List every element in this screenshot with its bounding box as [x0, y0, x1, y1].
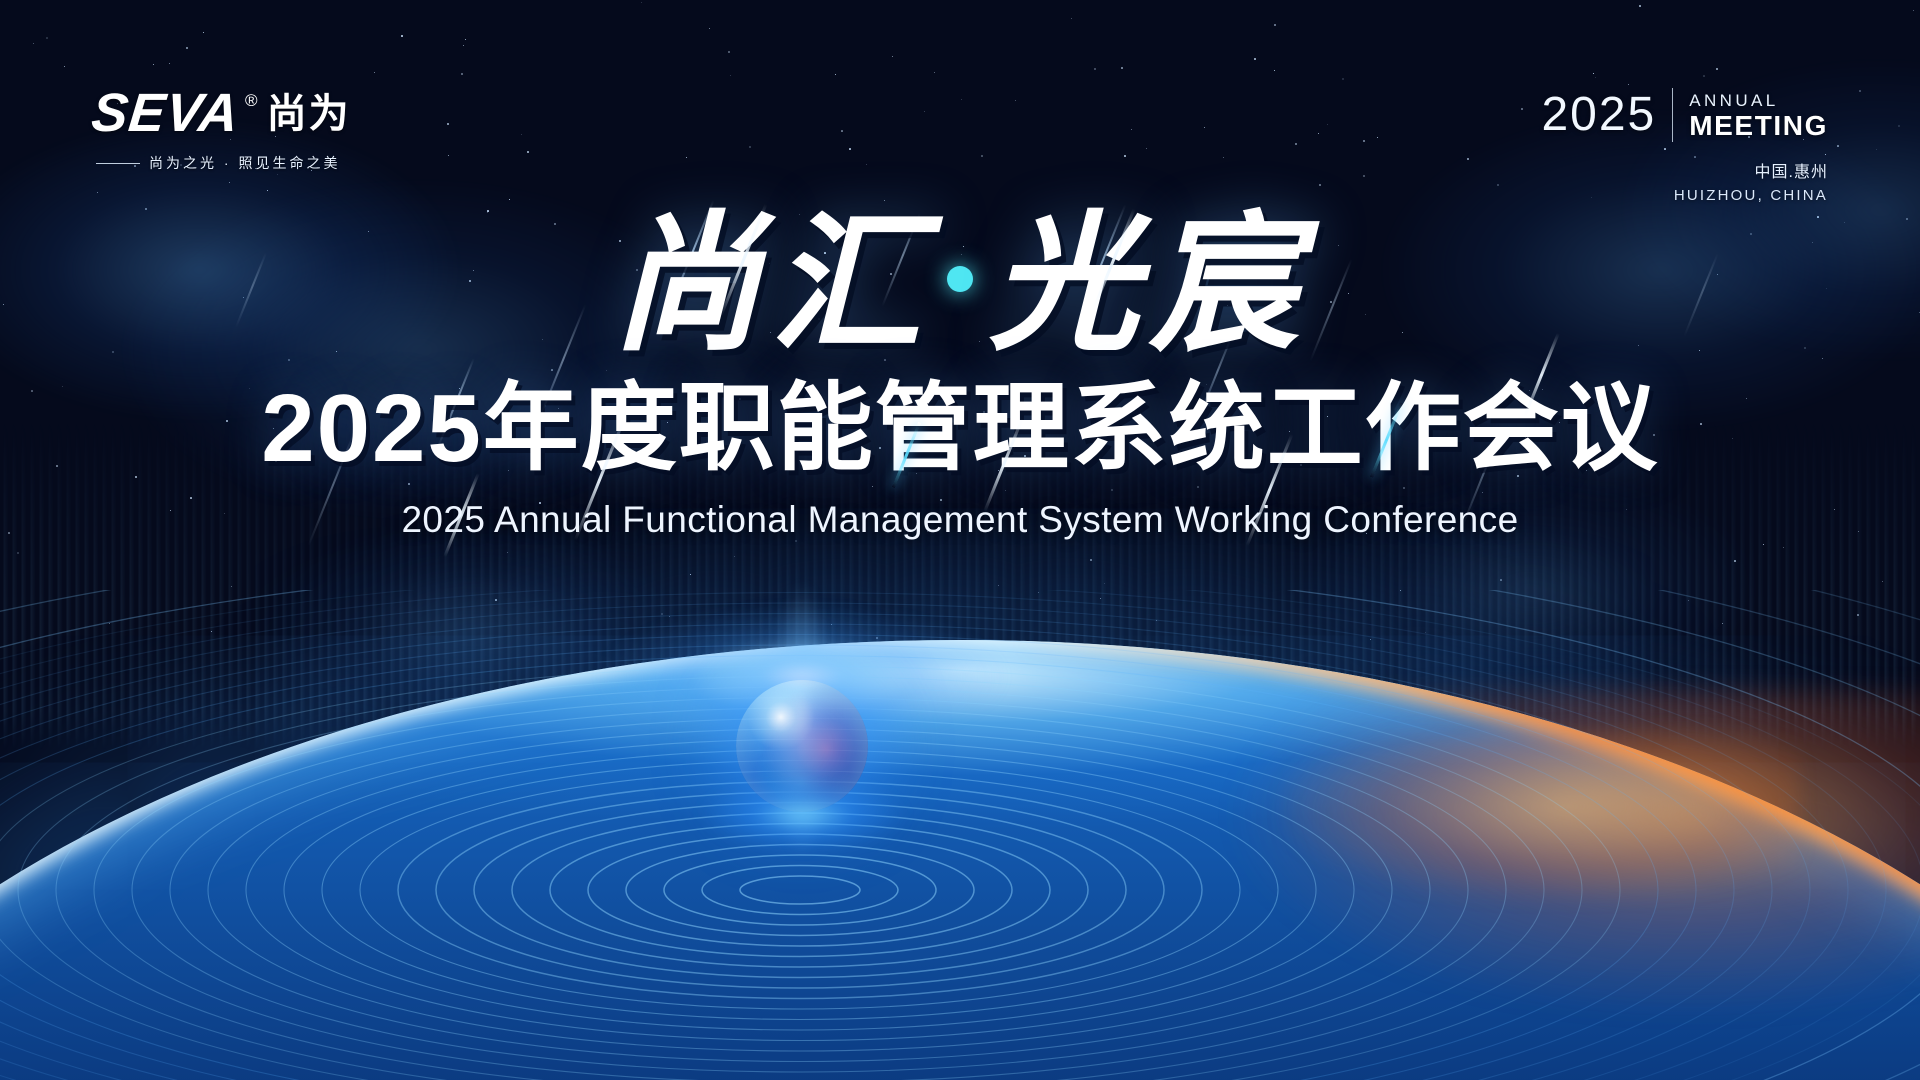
hero-title-right: 光宸 — [989, 200, 1309, 368]
meeting-meta-block: 2025 ANNUAL MEETING 中国.惠州 HUIZHOU, CHINA — [1541, 88, 1828, 204]
hero-subtitle-cn: 2025年度职能管理系统工作会议 — [0, 376, 1920, 482]
logo-wordmark-row: SEVA ® 尚为 — [92, 86, 392, 140]
registered-trademark-icon: ® — [245, 92, 258, 109]
planet-horizon — [0, 640, 1920, 1080]
hero-title: 尚汇光宸 — [0, 205, 1920, 364]
meeting-city-en: HUIZHOU, CHINA — [1541, 187, 1828, 204]
meeting-words: ANNUAL MEETING — [1689, 90, 1828, 141]
brand-tagline-row: 尚为之光 · 照见生命之美 — [96, 153, 392, 173]
meeting-annual-label: ANNUAL — [1689, 90, 1828, 111]
brand-logo: SEVA ® 尚为 尚为之光 · 照见生命之美 — [92, 86, 392, 173]
meeting-title-row: 2025 ANNUAL MEETING — [1541, 88, 1828, 142]
meeting-meeting-label: MEETING — [1689, 111, 1828, 140]
dot-separator-icon — [947, 266, 973, 292]
meeting-city-cn: 中国.惠州 — [1541, 158, 1828, 182]
logo-wordmark: SEVA — [89, 86, 242, 140]
hero-title-block: 尚汇光宸 2025年度职能管理系统工作会议 2025 Annual Functi… — [0, 205, 1920, 542]
meta-divider — [1672, 88, 1673, 142]
logo-name-cn: 尚为 — [267, 93, 351, 135]
hero-subtitle-en: 2025 Annual Functional Management System… — [0, 498, 1920, 542]
brand-tagline: 尚为之光 · 照见生命之美 — [149, 153, 340, 173]
hero-title-left: 尚汇 — [611, 200, 931, 368]
meeting-year: 2025 — [1541, 91, 1656, 139]
conference-poster: SEVA ® 尚为 尚为之光 · 照见生命之美 2025 ANNUAL MEET… — [0, 0, 1920, 1080]
tagline-rule-left — [96, 163, 140, 164]
